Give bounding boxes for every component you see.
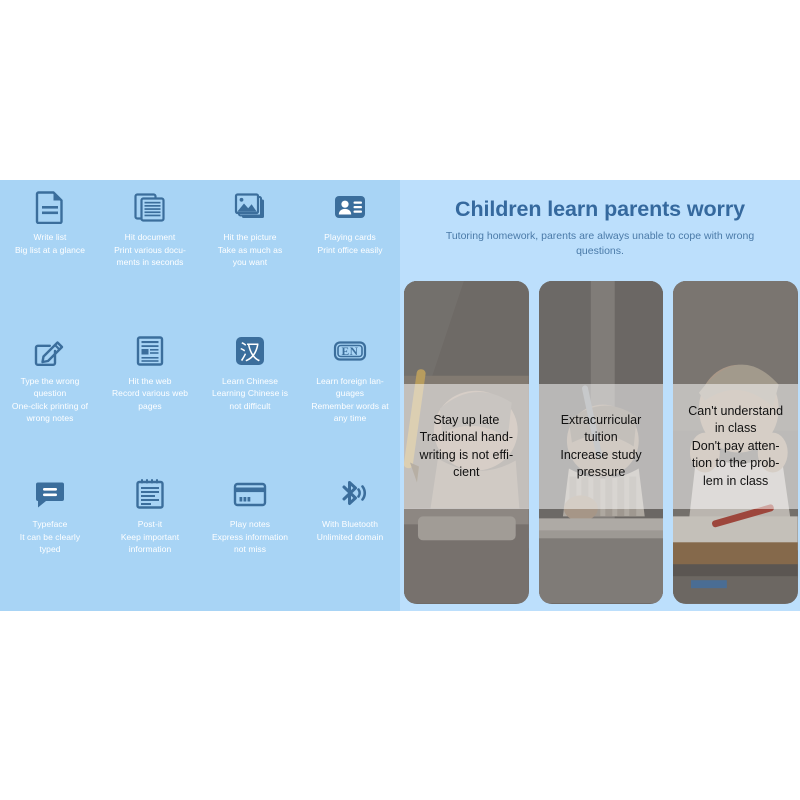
webpage-icon bbox=[131, 332, 169, 370]
feature-item-title: With Bluetooth bbox=[303, 518, 397, 531]
chinese-han-icon: 汉 bbox=[231, 332, 269, 370]
feature-item-desc: Print various docu- ments in seconds bbox=[103, 244, 197, 269]
photo-card-row: Stay up late Traditional hand- writing i… bbox=[404, 281, 798, 604]
feature-item-desc: Remember words at any time bbox=[303, 400, 397, 425]
feature-item-desc: Express information not miss bbox=[203, 531, 297, 556]
feature-item-post-it[interactable]: Post-it Keep important information bbox=[100, 467, 200, 611]
photo-card[interactable]: Stay up late Traditional hand- writing i… bbox=[404, 281, 529, 604]
feature-item-title: Hit the picture bbox=[203, 231, 297, 244]
feature-item-desc: Unlimited domain bbox=[303, 531, 397, 544]
speech-bubble-icon bbox=[31, 475, 69, 513]
photo-card-caption: Stay up late Traditional hand- writing i… bbox=[404, 384, 529, 509]
feature-item-desc: Print office easily bbox=[303, 244, 397, 257]
feature-item-write-list[interactable]: Write list Big list at a glance bbox=[0, 180, 100, 324]
feature-item-title: Post-it bbox=[103, 518, 197, 531]
feature-item-title: Play notes bbox=[203, 518, 297, 531]
feature-item-desc: It can be clearly typed bbox=[3, 531, 97, 556]
feature-item-typeface[interactable]: Typeface It can be clearly typed bbox=[0, 467, 100, 611]
english-en-icon: EN bbox=[331, 332, 369, 370]
feature-item-learn-foreign-languages[interactable]: EN Learn foreign lan- guages Remember wo… bbox=[300, 324, 400, 468]
feature-item-title: Playing cards bbox=[303, 231, 397, 244]
feature-item-hit-the-picture[interactable]: Hit the picture Take as much as you want bbox=[200, 180, 300, 324]
edit-pencil-icon bbox=[31, 332, 69, 370]
feature-item-with-bluetooth[interactable]: With Bluetooth Unlimited domain bbox=[300, 467, 400, 611]
poster-canvas: Write list Big list at a glance bbox=[0, 0, 800, 800]
feature-item-learn-chinese[interactable]: 汉 Learn Chinese Learning Chinese is not … bbox=[200, 324, 300, 468]
feature-item-title: Hit the web bbox=[103, 375, 197, 388]
worry-panel: Children learn parents worry Tutoring ho… bbox=[400, 180, 800, 611]
feature-item-type-the-wrong-question[interactable]: Type the wrong question One-click printi… bbox=[0, 324, 100, 468]
document-lines-icon bbox=[31, 188, 69, 226]
feature-item-desc: Learning Chinese is not difficult bbox=[203, 387, 297, 412]
features-panel: Write list Big list at a glance bbox=[0, 180, 400, 611]
photo-stack-icon bbox=[231, 188, 269, 226]
feature-item-title: Write list bbox=[3, 231, 97, 244]
page-subtitle: Tutoring homework, parents are always un… bbox=[428, 229, 772, 259]
multi-document-icon bbox=[131, 188, 169, 226]
feature-item-title: Typeface bbox=[3, 518, 97, 531]
feature-item-title: Learn Chinese bbox=[203, 375, 297, 388]
credit-card-icon bbox=[231, 475, 269, 513]
photo-card[interactable]: Can't understand in class Don't pay atte… bbox=[673, 281, 798, 604]
page-title: Children learn parents worry bbox=[400, 197, 800, 222]
id-card-icon bbox=[331, 188, 369, 226]
feature-item-title: Type the wrong question bbox=[3, 375, 97, 400]
feature-item-hit-the-web[interactable]: Hit the web Record various web pages bbox=[100, 324, 200, 468]
feature-item-desc: Keep important information bbox=[103, 531, 197, 556]
feature-item-title: Learn foreign lan- guages bbox=[303, 375, 397, 400]
photo-card-caption: Extracurricular tuition Increase study p… bbox=[539, 384, 664, 509]
bluetooth-icon bbox=[331, 475, 369, 513]
photo-card-caption: Can't understand in class Don't pay atte… bbox=[673, 384, 798, 509]
feature-item-playing-cards[interactable]: Playing cards Print office easily bbox=[300, 180, 400, 324]
feature-item-play-notes[interactable]: Play notes Express information not miss bbox=[200, 467, 300, 611]
feature-item-title: Hit document bbox=[103, 231, 197, 244]
feature-item-desc: Take as much as you want bbox=[203, 244, 297, 269]
photo-card[interactable]: Extracurricular tuition Increase study p… bbox=[539, 281, 664, 604]
svg-text:EN: EN bbox=[342, 346, 359, 358]
svg-text:汉: 汉 bbox=[240, 340, 261, 364]
feature-item-desc: One-click printing of wrong notes bbox=[3, 400, 97, 425]
feature-grid: Write list Big list at a glance bbox=[0, 180, 400, 611]
feature-item-desc: Big list at a glance bbox=[3, 244, 97, 257]
feature-item-desc: Record various web pages bbox=[103, 387, 197, 412]
feature-item-hit-document[interactable]: Hit document Print various docu- ments i… bbox=[100, 180, 200, 324]
notepad-icon bbox=[131, 475, 169, 513]
